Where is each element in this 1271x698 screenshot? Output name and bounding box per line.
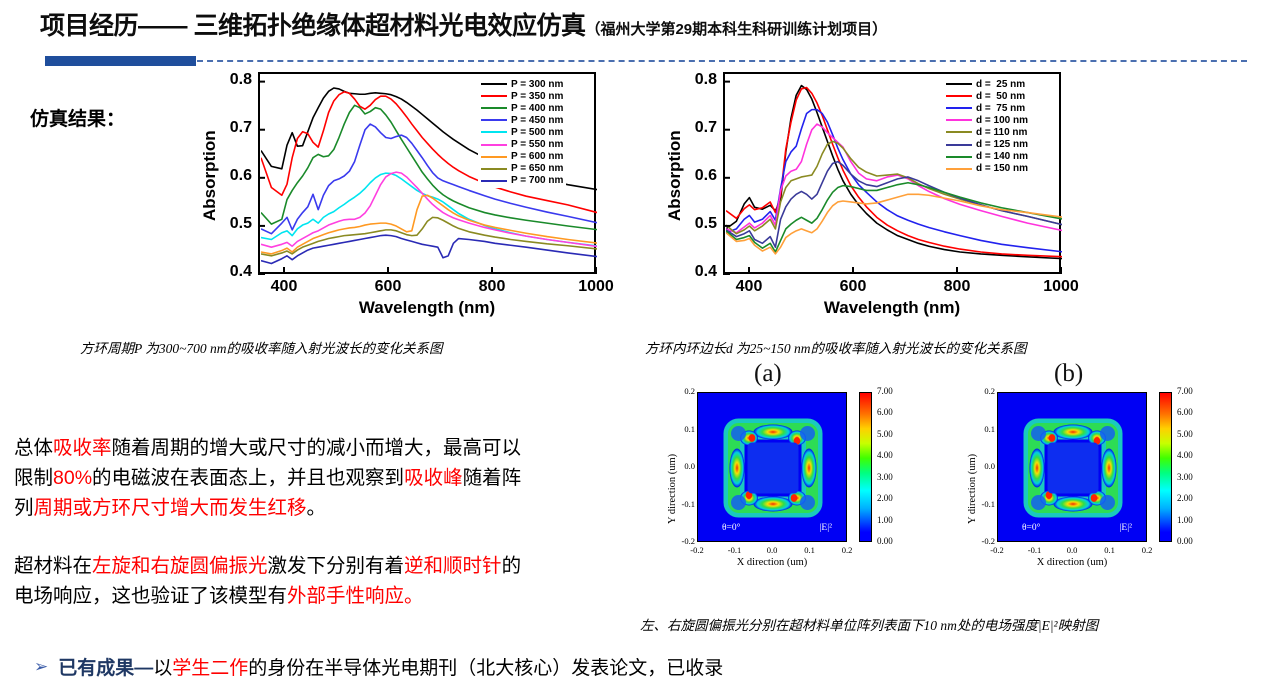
heatmap-x-axis-label: X direction (um) xyxy=(997,557,1147,568)
colorbar xyxy=(1159,392,1172,542)
title-sub-text: （福州大学第29期本科生科研训练计划项目） xyxy=(585,21,887,38)
legend-color-swatch xyxy=(481,156,507,158)
legend-label: d = 75 nm xyxy=(976,103,1025,114)
legend-color-swatch xyxy=(946,83,972,85)
legend-color-swatch xyxy=(946,95,972,97)
legend-color-swatch xyxy=(481,144,507,146)
title-accent-bar xyxy=(45,56,196,66)
y-tick-label: 0.4 xyxy=(675,263,717,281)
bullet-text-run: 已有成果— xyxy=(58,658,153,679)
legend-color-swatch xyxy=(481,131,507,133)
heatmap-x-tick: -0.1 xyxy=(721,545,749,555)
text-run: 电场响应，这也验证了该模型有 xyxy=(14,585,287,607)
caption-efield-figure: 左、右旋圆偏振光分别在超材料单位阵列表面下10 nm处的电场强度|E|²映射图 xyxy=(640,614,1098,634)
y-tick-label: 0.8 xyxy=(210,71,252,89)
legend-label: P = 500 nm xyxy=(511,127,563,138)
legend-color-swatch xyxy=(481,180,507,182)
legend-item: P = 650 nm xyxy=(481,163,563,175)
panel-letter: (a) xyxy=(754,360,782,388)
legend-item: d = 140 nm xyxy=(946,151,1028,163)
legend-color-swatch xyxy=(946,156,972,158)
x-tick-label: 800 xyxy=(927,278,987,296)
colorbar-tick-label: 5.00 xyxy=(1177,429,1193,439)
colorbar-tick-label: 0.00 xyxy=(877,536,893,546)
legend-label: P = 400 nm xyxy=(511,103,563,114)
colorbar-tick-label: 3.00 xyxy=(1177,472,1193,482)
colorbar-tick-label: 1.00 xyxy=(877,515,893,525)
page-title: 项目经历—— 三维拓扑绝缘体超材料光电效应仿真（福州大学第29期本科生科研训练计… xyxy=(40,6,887,42)
x-tick-label: 400 xyxy=(254,278,314,296)
heatmap-x-tick: 0.0 xyxy=(1058,545,1086,555)
colorbar-tick-label: 4.00 xyxy=(877,450,893,460)
text-run: 总体 xyxy=(14,437,53,459)
text-run: 的 xyxy=(502,555,522,577)
bullet-text-run: 以 xyxy=(153,658,172,679)
legend-color-swatch xyxy=(946,131,972,133)
legend-item: P = 400 nm xyxy=(481,102,563,114)
bullet-text-run: 的身份在半导体光电期刊（北大核心）发表论文，已收录 xyxy=(248,658,723,679)
text-run: 超材料在 xyxy=(14,555,92,577)
legend-label: d = 110 nm xyxy=(976,127,1027,138)
field-pattern xyxy=(698,393,847,542)
field-pattern xyxy=(998,393,1147,542)
bullet-achievement: ➢ 已有成果—以学生二作的身份在半导体光电期刊（北大核心）发表论文，已收录 xyxy=(34,653,723,680)
bullet-arrow-icon: ➢ xyxy=(34,658,48,675)
text-run: 限制 xyxy=(14,467,53,489)
heatmap-x-tick: -0.2 xyxy=(683,545,711,555)
x-tick-label: 800 xyxy=(462,278,522,296)
legend-item: P = 350 nm xyxy=(481,90,563,102)
legend-label: d = 125 nm xyxy=(976,139,1028,150)
legend-item: P = 450 nm xyxy=(481,114,563,126)
colorbar-tick-label: 5.00 xyxy=(877,429,893,439)
legend-item: P = 700 nm xyxy=(481,175,563,187)
heatmap-x-axis-label: X direction (um) xyxy=(697,557,847,568)
legend-item: d = 125 nm xyxy=(946,138,1028,150)
legend-label: d = 150 nm xyxy=(976,163,1028,174)
chart-legend: d = 25 nmd = 50 nmd = 75 nmd = 100 nmd =… xyxy=(943,77,1031,176)
legend-item: P = 500 nm xyxy=(481,126,563,138)
legend-label: P = 450 nm xyxy=(511,115,563,126)
legend-item: d = 110 nm xyxy=(946,126,1028,138)
legend-label: P = 700 nm xyxy=(511,175,563,186)
heatmap-x-tick: 0.2 xyxy=(1133,545,1161,555)
paragraph-chirality: 超材料在左旋和右旋圆偏振光激发下分别有着逆和顺时针的电场响应，这也验证了该模型有… xyxy=(14,551,654,611)
chart-legend: P = 300 nmP = 350 nmP = 400 nmP = 450 nm… xyxy=(478,77,566,188)
heatmap-x-tick: -0.1 xyxy=(1021,545,1049,555)
x-tick-label: 600 xyxy=(358,278,418,296)
heatmap-y-tick: 0.1 xyxy=(673,424,695,434)
text-run: 吸收率 xyxy=(53,437,112,459)
heatmap-x-tick: 0.1 xyxy=(1096,545,1124,555)
heatmap-x-tick: 0.1 xyxy=(796,545,824,555)
heatmap-x-tick: 0.2 xyxy=(833,545,861,555)
legend-item: P = 600 nm xyxy=(481,151,563,163)
colorbar-tick-label: 0.00 xyxy=(1177,536,1193,546)
legend-color-swatch xyxy=(481,107,507,109)
heatmap-x-tick: 0.0 xyxy=(758,545,786,555)
legend-color-swatch xyxy=(946,144,972,146)
text-run: 的电磁波在表面态上，并且也观察到 xyxy=(92,467,404,489)
colorbar-tick-label: 6.00 xyxy=(1177,407,1193,417)
efield-map-group: (a)θ=0°|E|²0.20.10.0-0.1-0.2-0.2-0.10.00… xyxy=(655,362,1271,607)
legend-color-swatch xyxy=(946,107,972,109)
legend-item: d = 100 nm xyxy=(946,114,1028,126)
y-tick-label: 0.8 xyxy=(675,71,717,89)
caption-right-figure: 方环内环边长d 为25~150 nm的吸收率随入射光波长的变化关系图 xyxy=(645,337,1027,357)
y-axis-label: Absorption xyxy=(200,130,220,221)
heatmap-y-tick: 0.2 xyxy=(673,386,695,396)
field-quantity-annotation: |E|² xyxy=(1120,523,1132,533)
text-run: 左旋和右旋圆偏振光 xyxy=(92,555,268,577)
colorbar-tick-label: 2.00 xyxy=(877,493,893,503)
efield-map-canvas: θ=0°|E|² xyxy=(997,392,1147,542)
chart-period: 0.40.50.60.70.84006008001000AbsorptionWa… xyxy=(190,66,610,326)
heatmap-x-tick: -0.2 xyxy=(983,545,1011,555)
panel-letter: (b) xyxy=(1054,360,1083,388)
legend-item: P = 550 nm xyxy=(481,138,563,150)
legend-label: d = 140 nm xyxy=(976,151,1028,162)
text-run: 列 xyxy=(14,497,34,519)
paragraph-absorption: 总体吸收率随着周期的增大或尺寸的减小而增大，最高可以限制80%的电磁波在表面态上… xyxy=(14,433,654,523)
text-run: 。 xyxy=(307,497,327,519)
slide-canvas: 项目经历—— 三维拓扑绝缘体超材料光电效应仿真（福州大学第29期本科生科研训练计… xyxy=(0,0,1271,698)
legend-color-swatch xyxy=(481,83,507,85)
efield-map-canvas: θ=0°|E|² xyxy=(697,392,847,542)
legend-item: d = 50 nm xyxy=(946,90,1028,102)
angle-annotation: θ=0° xyxy=(1022,523,1040,533)
colorbar-tick-label: 4.00 xyxy=(1177,450,1193,460)
colorbar-tick-label: 2.00 xyxy=(1177,493,1193,503)
legend-color-swatch xyxy=(946,119,972,121)
colorbar-tick-label: 7.00 xyxy=(877,386,893,396)
field-quantity-annotation: |E|² xyxy=(820,523,832,533)
y-tick-label: 0.4 xyxy=(210,263,252,281)
x-tick-label: 600 xyxy=(823,278,883,296)
legend-label: P = 300 nm xyxy=(511,79,563,90)
text-run: 周期或方环尺寸增大而发生红移 xyxy=(34,497,307,519)
colorbar-tick-label: 6.00 xyxy=(877,407,893,417)
x-tick-label: 400 xyxy=(719,278,779,296)
heatmap-y-axis-label: Y direction (um) xyxy=(667,454,678,524)
text-run: 随着阵 xyxy=(463,467,522,489)
angle-annotation: θ=0° xyxy=(722,523,740,533)
bullet-text-run: 学生二作 xyxy=(172,658,248,679)
legend-item: d = 75 nm xyxy=(946,102,1028,114)
x-axis-label: Wavelength (nm) xyxy=(258,298,596,318)
x-tick-label: 1000 xyxy=(1031,278,1091,296)
legend-label: P = 600 nm xyxy=(511,151,563,162)
legend-label: P = 650 nm xyxy=(511,163,563,174)
heatmap-y-tick: 0.1 xyxy=(973,424,995,434)
title-dashed-rule xyxy=(197,60,1247,62)
text-run: 外部手性响应。 xyxy=(287,585,424,607)
colorbar-tick-label: 7.00 xyxy=(1177,386,1193,396)
legend-color-swatch xyxy=(481,168,507,170)
text-run: 80% xyxy=(53,467,92,489)
bullet-text: 已有成果—以学生二作的身份在半导体光电期刊（北大核心）发表论文，已收录 xyxy=(58,653,723,680)
x-axis-label: Wavelength (nm) xyxy=(723,298,1061,318)
colorbar-tick-label: 3.00 xyxy=(877,472,893,482)
legend-color-swatch xyxy=(481,119,507,121)
legend-color-swatch xyxy=(481,95,507,97)
legend-item: d = 150 nm xyxy=(946,163,1028,175)
heatmap-y-tick: 0.2 xyxy=(973,386,995,396)
legend-label: d = 100 nm xyxy=(976,115,1028,126)
legend-label: P = 550 nm xyxy=(511,139,563,150)
text-run: 激发下分别有着 xyxy=(268,555,405,577)
heatmap-y-axis-label: Y direction (um) xyxy=(967,454,978,524)
legend-color-swatch xyxy=(946,168,972,170)
title-main-text: 项目经历—— 三维拓扑绝缘体超材料光电效应仿真 xyxy=(40,12,585,40)
text-run: 吸收峰 xyxy=(404,467,463,489)
legend-label: P = 350 nm xyxy=(511,91,563,102)
caption-left-figure: 方环周期P 为300~700 nm的吸收率随入射光波长的变化关系图 xyxy=(80,337,443,357)
y-axis-label: Absorption xyxy=(665,130,685,221)
legend-label: d = 25 nm xyxy=(976,79,1025,90)
chart-inner-length: 0.40.50.60.70.84006008001000AbsorptionWa… xyxy=(655,66,1075,326)
colorbar xyxy=(859,392,872,542)
text-run: 随着周期的增大或尺寸的减小而增大，最高可以 xyxy=(112,437,522,459)
x-tick-label: 1000 xyxy=(566,278,626,296)
legend-item: d = 25 nm xyxy=(946,78,1028,90)
legend-item: P = 300 nm xyxy=(481,78,563,90)
colorbar-tick-label: 1.00 xyxy=(1177,515,1193,525)
section-label: 仿真结果： xyxy=(30,104,125,131)
legend-label: d = 50 nm xyxy=(976,91,1025,102)
text-run: 逆和顺时针 xyxy=(404,555,502,577)
